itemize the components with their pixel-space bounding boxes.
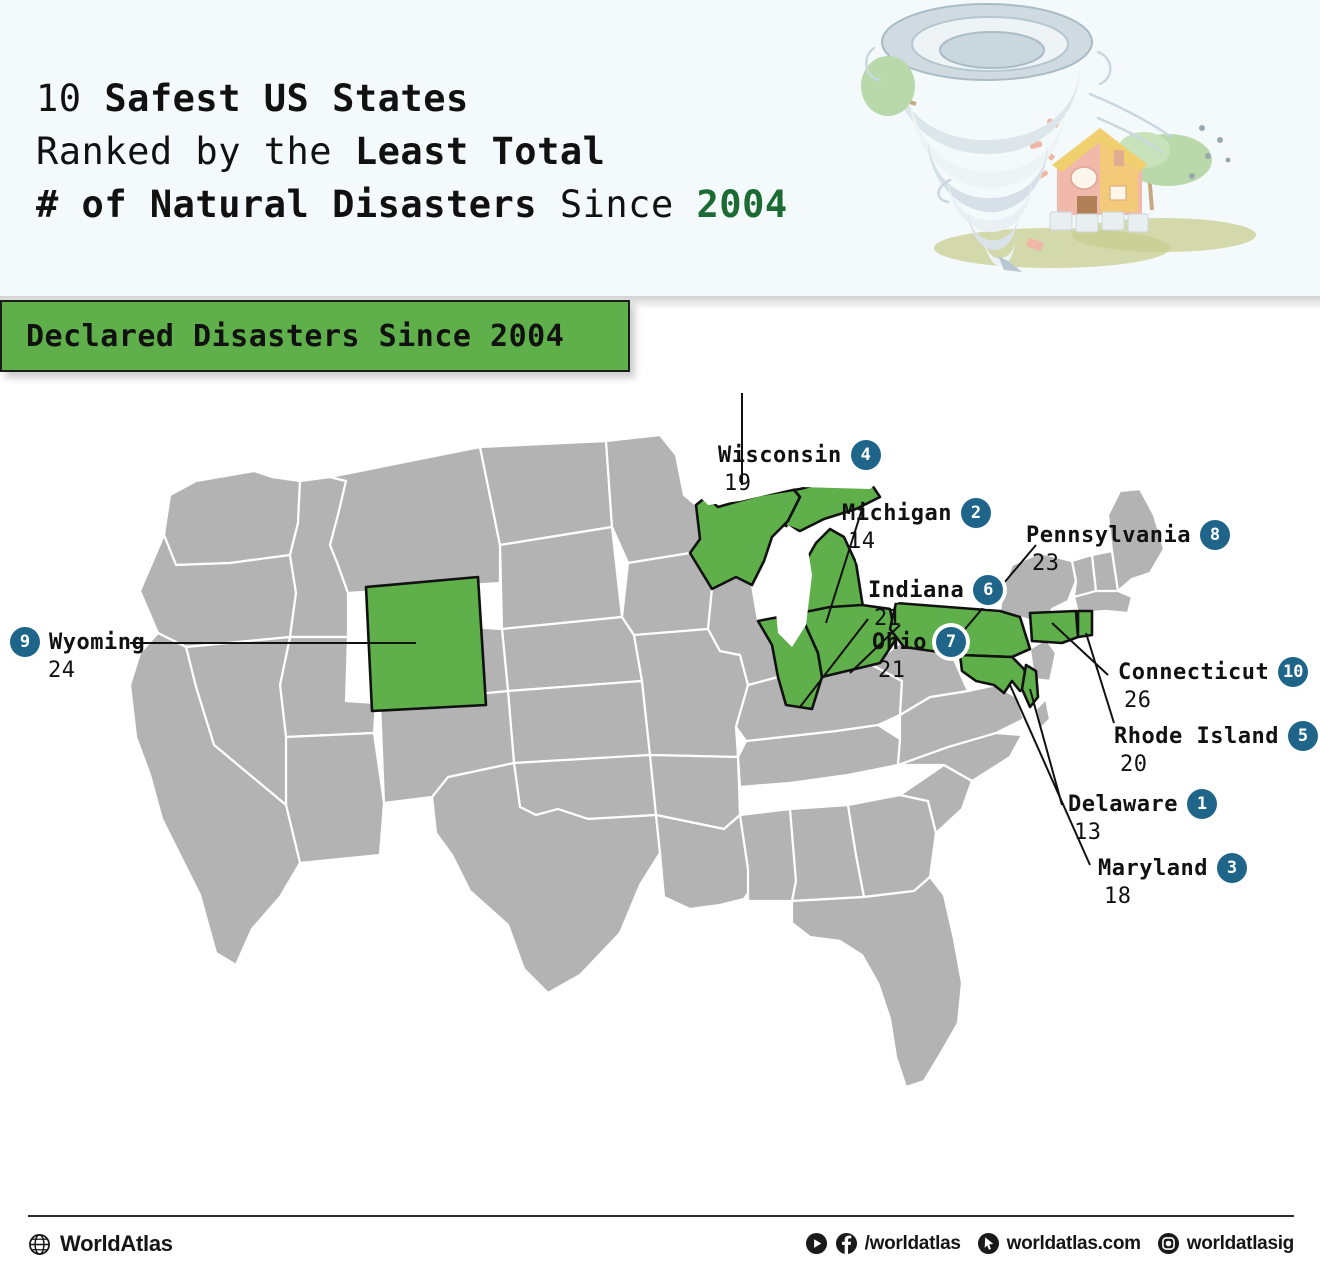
callout-pennsylvania-count: 23: [1032, 551, 1230, 576]
callout-rhode-island-count: 20: [1120, 752, 1318, 777]
rank-badge-wyoming: 9: [10, 627, 40, 657]
state-rhode-island-highlight: [1078, 611, 1092, 637]
header-banner: 10 Safest US States Ranked by the Least …: [0, 0, 1320, 296]
callout-ohio: Ohio 7 21: [872, 627, 966, 683]
rank-badge-connecticut: 10: [1278, 657, 1308, 687]
social-handle-instagram[interactable]: worldatlasig: [1187, 1233, 1294, 1255]
callout-delaware: Delaware 1 13: [1068, 789, 1217, 845]
callout-rhode-island-row: Rhode Island 5: [1114, 721, 1318, 751]
callout-ohio-row: Ohio 7: [872, 627, 966, 657]
callout-ohio-name: Ohio: [872, 630, 927, 655]
legend-banner-label: Declared Disasters Since 2004: [26, 319, 564, 354]
callout-wisconsin-name: Wisconsin: [718, 443, 842, 468]
callout-indiana-name: Indiana: [868, 578, 964, 603]
leader-rhodeisland: [1086, 633, 1114, 723]
social-group-website[interactable]: worldatlas.com: [977, 1232, 1141, 1255]
callout-delaware-row: Delaware 1: [1068, 789, 1217, 819]
callout-ohio-count: 21: [878, 658, 966, 683]
rank-badge-indiana: 6: [973, 575, 1003, 605]
callout-wisconsin-count: 19: [724, 471, 881, 496]
callout-pennsylvania: Pennsylvania 8 23: [1026, 520, 1230, 576]
state-washington: [164, 471, 300, 565]
footer: WorldAtlas /worldatlas worldatlas.com: [0, 1215, 1320, 1271]
title-line-3-bold: # of Natural Disasters: [36, 183, 537, 226]
state-minnesota: [606, 435, 700, 563]
globe-icon: [28, 1233, 51, 1256]
brand-logo: WorldAtlas: [28, 1231, 173, 1257]
callout-michigan-name: Michigan: [842, 501, 952, 526]
rank-badge-pennsylvania: 8: [1200, 520, 1230, 550]
state-oklahoma: [514, 755, 656, 819]
callout-maryland-name: Maryland: [1098, 856, 1208, 881]
callout-wyoming-count: 24: [48, 658, 145, 683]
callout-rhode-island-name: Rhode Island: [1114, 724, 1279, 749]
callout-wisconsin-row: Wisconsin 4: [718, 440, 881, 470]
state-maryland-highlight: [960, 655, 1030, 693]
state-delaware-highlight: [1022, 665, 1038, 707]
title-year: 2004: [697, 183, 788, 226]
callout-michigan-row: Michigan 2: [842, 498, 991, 528]
callout-connecticut-count: 26: [1124, 688, 1308, 713]
facebook-icon[interactable]: [835, 1232, 858, 1255]
callout-indiana-row: Indiana 6: [868, 575, 1003, 605]
footer-divider: [28, 1215, 1294, 1217]
rank-badge-ohio: 7: [936, 627, 966, 657]
state-south-dakota: [500, 527, 622, 629]
legend-banner: Declared Disasters Since 2004: [0, 300, 630, 372]
state-connecticut-highlight: [1030, 611, 1078, 643]
rank-badge-michigan: 2: [961, 498, 991, 528]
rank-badge-wisconsin: 4: [851, 440, 881, 470]
callout-delaware-count: 13: [1074, 820, 1217, 845]
us-map: Wisconsin 4 19 Michigan 2 14 Pennsylvani…: [0, 385, 1320, 1215]
state-montana: [330, 447, 500, 593]
callout-wyoming-name: Wyoming: [49, 630, 145, 655]
callout-maryland-row: Maryland 3: [1098, 853, 1247, 883]
callout-maryland: Maryland 3 18: [1098, 853, 1247, 909]
social-group-instagram[interactable]: worldatlasig: [1157, 1232, 1294, 1255]
callout-indiana: Indiana 6 21: [868, 575, 1003, 631]
state-georgia: [848, 795, 936, 897]
title-line-2-bold: Least Total: [355, 130, 606, 173]
title-line-1-plain: 10: [36, 77, 104, 120]
rank-badge-delaware: 1: [1187, 789, 1217, 819]
callout-wyoming-row: 9 Wyoming: [10, 627, 145, 657]
state-kansas: [508, 681, 650, 763]
social-group-worldatlas[interactable]: /worldatlas: [805, 1232, 961, 1255]
title-line-3-plain: Since: [537, 183, 696, 226]
tornado-illustration: [852, 0, 1272, 280]
callout-connecticut-row: Connecticut 10: [1118, 657, 1308, 687]
title-line-2: Ranked by the Least Total: [36, 125, 916, 178]
callout-connecticut: Connecticut 10 26: [1118, 657, 1308, 713]
state-nebraska: [502, 617, 642, 691]
callout-rhode-island: Rhode Island 5 20: [1114, 721, 1318, 777]
title-line-1: 10 Safest US States: [36, 72, 916, 125]
state-florida: [792, 877, 962, 1087]
social-links: /worldatlas worldatlas.com worldatlasig: [805, 1232, 1294, 1255]
callout-pennsylvania-name: Pennsylvania: [1026, 523, 1191, 548]
state-delmarva-tip: [1036, 699, 1050, 729]
callout-wyoming: 9 Wyoming 24: [10, 627, 145, 683]
title-line-3: # of Natural Disasters Since 2004: [36, 178, 916, 231]
state-arizona: [286, 733, 384, 863]
social-handle-worldatlas[interactable]: /worldatlas: [865, 1233, 961, 1255]
callout-pennsylvania-row: Pennsylvania 8: [1026, 520, 1230, 550]
title-line-2-plain: Ranked by the: [36, 130, 355, 173]
title-line-1-bold: Safest US States: [104, 77, 468, 120]
state-utah: [280, 637, 376, 737]
rank-badge-maryland: 3: [1217, 853, 1247, 883]
callout-connecticut-name: Connecticut: [1118, 660, 1269, 685]
callout-michigan: Michigan 2 14: [842, 498, 991, 554]
social-handle-website[interactable]: worldatlas.com: [1007, 1233, 1141, 1255]
callout-maryland-count: 18: [1104, 884, 1247, 909]
callout-delaware-name: Delaware: [1068, 792, 1178, 817]
page-title: 10 Safest US States Ranked by the Least …: [36, 72, 916, 231]
rank-badge-rhode-island: 5: [1288, 721, 1318, 751]
state-mississippi: [740, 809, 796, 901]
callout-michigan-count: 14: [848, 529, 991, 554]
cursor-icon[interactable]: [977, 1232, 1000, 1255]
instagram-icon[interactable]: [1157, 1232, 1180, 1255]
callout-wisconsin: Wisconsin 4 19: [718, 440, 881, 496]
brand-name: WorldAtlas: [60, 1231, 173, 1257]
youtube-icon[interactable]: [805, 1232, 828, 1255]
